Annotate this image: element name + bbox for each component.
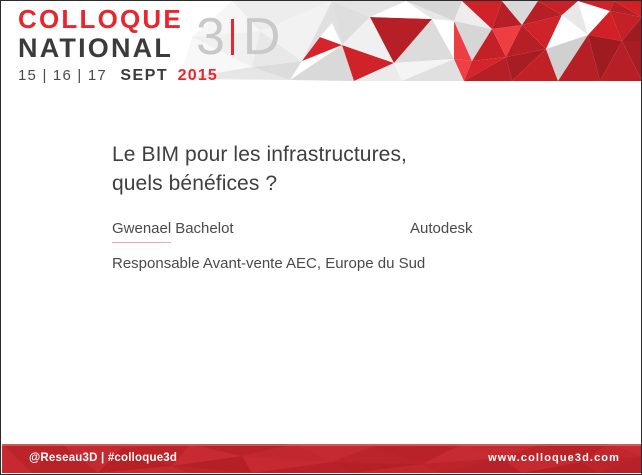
header-banner: COLLOQUE NATIONAL 3 D 15 | 16 | 17 SEPT …	[2, 1, 642, 84]
logo-month: SEPT	[120, 67, 168, 84]
author-role: Responsable Avant-vente AEC, Europe du S…	[112, 252, 582, 276]
logo-text-3: 3	[196, 9, 225, 65]
footer-website: www.colloque3d.com	[488, 444, 620, 473]
author-company: Autodesk	[410, 217, 473, 241]
logo-divider-bar	[231, 19, 234, 55]
slide-title: Le BIM pour les infrastructures, quels b…	[112, 140, 582, 198]
logo-date-line: 15 | 16 | 17 SEPT 2015	[18, 66, 278, 84]
logo-3d-mark: 3 D	[196, 9, 280, 65]
footer-social-handle: @Reseau3D | #colloque3d	[29, 444, 177, 473]
logo-text-d: D	[243, 9, 281, 65]
logo-days: 15 | 16 | 17	[18, 67, 107, 84]
logo-year: 2015	[178, 67, 218, 84]
author-last-name: Bachelot	[171, 217, 233, 241]
footer-bar: @Reseau3D | #colloque3d www.colloque3d.c…	[2, 444, 642, 473]
presentation-slide: COLLOQUE NATIONAL 3 D 15 | 16 | 17 SEPT …	[0, 0, 642, 475]
author-name-row: GwenaelBachelot Autodesk	[112, 217, 582, 245]
author-info: GwenaelBachelot Autodesk Responsable Ava…	[112, 217, 582, 276]
slide-content-area: Le BIM pour les infrastructures, quels b…	[2, 84, 642, 443]
event-logo: COLLOQUE NATIONAL 3 D 15 | 16 | 17 SEPT …	[18, 5, 278, 84]
logo-line-national: NATIONAL 3 D	[18, 33, 278, 63]
author-first-name: Gwenael	[112, 217, 171, 243]
title-line-1: Le BIM pour les infrastructures,	[112, 140, 582, 169]
logo-text-national: NATIONAL	[18, 33, 173, 63]
title-line-2: quels bénéfices ?	[112, 169, 582, 198]
logo-text-colloque: COLLOQUE	[18, 5, 183, 33]
